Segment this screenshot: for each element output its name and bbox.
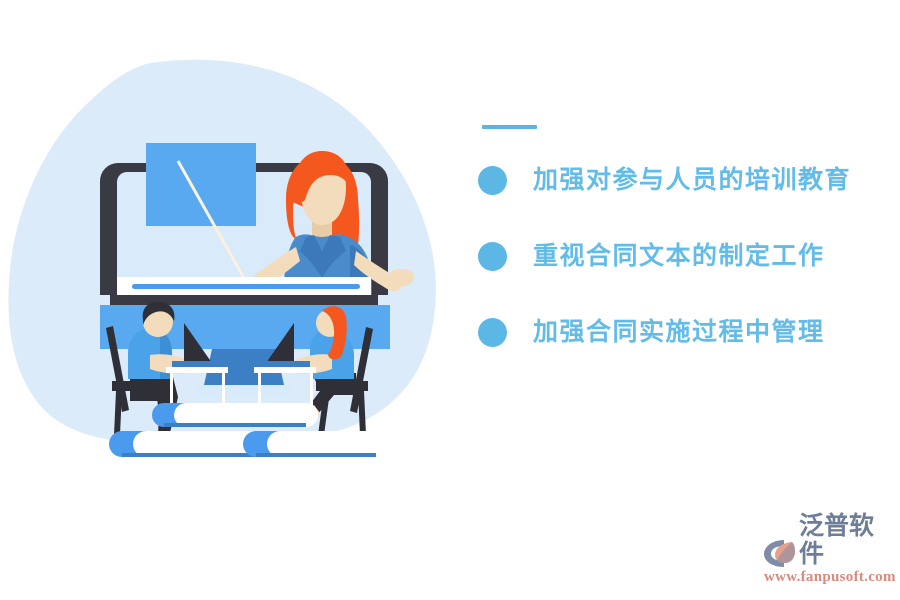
slide-canvas: 加强对参与人员的培训教育 重视合同文本的制定工作 加强合同实施过程中管理 泛普软 (0, 0, 900, 600)
bullet-label-2: 重视合同文本的制定工作 (533, 241, 825, 271)
logo-website-url: www.fanpusoft.com (764, 569, 892, 586)
brand-logo: 泛普软件 www.fanpusoft.com (762, 534, 892, 590)
bullet-dot-icon (478, 166, 507, 195)
bullet-list: 加强对参与人员的培训教育 重视合同文本的制定工作 加强合同实施过程中管理 (478, 165, 888, 347)
monitor-stand-base (196, 385, 292, 397)
bullet-label-1: 加强对参与人员的培训教育 (533, 165, 851, 195)
bullet-item-3: 加强合同实施过程中管理 (478, 317, 888, 347)
monitor-chin (110, 295, 378, 305)
presentation-slide-panel (146, 143, 256, 226)
screen-progress-bar (132, 284, 360, 289)
laptop-left-base (172, 361, 224, 367)
book-lower-left-edge (122, 453, 256, 457)
laptop-right-base (258, 361, 310, 367)
logo-top-row: 泛普软件 (762, 534, 892, 568)
online-training-illustration (0, 55, 460, 465)
bullet-content-column: 加强对参与人员的培训教育 重视合同文本的制定工作 加强合同实施过程中管理 (478, 125, 888, 347)
book-upper-edge (164, 423, 306, 427)
desk-right-top (254, 367, 316, 373)
bullet-dot-icon (478, 242, 507, 271)
bullet-dot-icon (478, 318, 507, 347)
bullet-item-2: 重视合同文本的制定工作 (478, 241, 888, 271)
book-lower-right-edge (256, 453, 376, 457)
logo-brand-name: 泛普软件 (799, 512, 892, 568)
accent-rule (482, 125, 537, 129)
fanpu-leaf-mark-icon (762, 538, 796, 568)
desk-left-top (166, 367, 228, 373)
bullet-label-3: 加强合同实施过程中管理 (533, 317, 825, 347)
bullet-item-1: 加强对参与人员的培训教育 (478, 165, 888, 195)
